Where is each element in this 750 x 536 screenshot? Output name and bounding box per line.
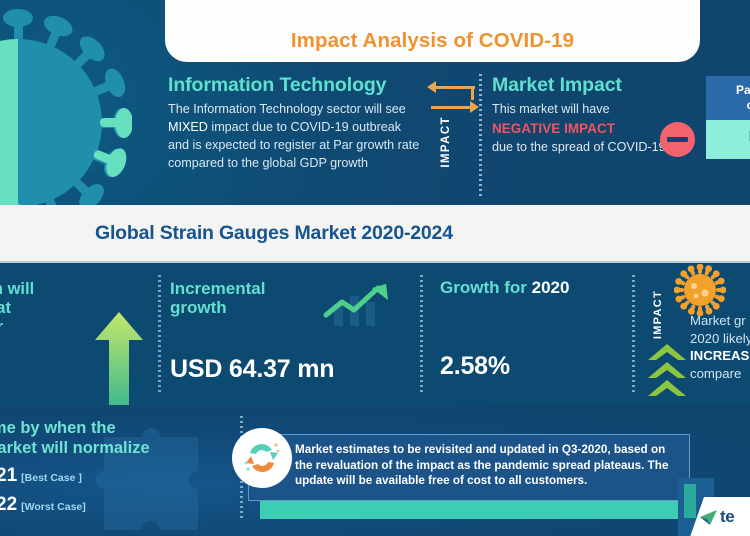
pandemic-head-line2: on <box>747 98 750 112</box>
inc-label-line2: growth <box>170 298 227 317</box>
mi-body-part1: This market will have <box>492 102 610 116</box>
trend-up-icon <box>320 282 392 326</box>
mi-body-emphasis: NEGATIVE IMPACT <box>492 121 615 136</box>
impact-label-vertical: IMPACT <box>440 116 452 168</box>
coronavirus-icon <box>674 264 726 316</box>
market-impact-block: Market Impact This market will have NEGA… <box>492 74 667 157</box>
no-entry-icon <box>660 122 695 157</box>
it-body: The Information Technology sector will s… <box>168 101 420 173</box>
ri-line3: INCREASE <box>690 348 750 363</box>
dotted-divider <box>479 74 482 198</box>
title-banner: Impact Analysis of COVID-19 <box>165 0 700 62</box>
ri-line2: 2020 likely <box>690 331 750 346</box>
right-impact-text: Market gr 2020 likely INCREASE compare <box>690 312 750 382</box>
normalization-line2: on market will normalize <box>0 439 150 457</box>
best-case-value: 3-2021 <box>0 465 17 486</box>
worst-case-tag: [Worst Case] <box>21 501 86 513</box>
market-impact-body: This market will have NEGATIVE IMPACT du… <box>492 101 667 157</box>
growth-label-teal: Growth for <box>440 278 532 297</box>
it-heading: Information Technology <box>168 74 420 97</box>
market-name-band: Global Strain Gauges Market 2020-2024 <box>0 205 750 263</box>
arrow-up-icon <box>95 312 143 407</box>
pandemic-card: Pande on D <box>706 76 750 159</box>
note-text: Market estimates to be revisited and upd… <box>249 435 689 489</box>
coronavirus-icon <box>0 8 132 205</box>
dotted-divider-1 <box>158 275 161 393</box>
worst-case-value: 1-2022 <box>0 494 17 515</box>
metric-left-line2: RATE at <box>0 299 11 317</box>
normalization-line1: ed time by when the <box>0 419 116 437</box>
page-title: Impact Analysis of COVID-19 <box>291 29 574 53</box>
chevron-up-icon <box>648 344 686 400</box>
growth-2020-label: Growth for 2020 <box>440 278 569 297</box>
arrow-connector <box>471 87 474 100</box>
incremental-growth-value: USD 64.37 mn <box>170 355 334 384</box>
best-case-row: 3-2021[Best Case ] <box>0 465 218 487</box>
pandemic-card-body: D <box>706 120 750 159</box>
pandemic-card-header: Pande on <box>706 76 750 120</box>
information-technology-block: Information Technology The Information T… <box>168 74 420 173</box>
right-impact-block: IMPACT <box>646 266 750 406</box>
pandemic-head-line1: Pande <box>736 83 750 97</box>
market-name: Global Strain Gauges Market 2020-2024 <box>0 222 453 245</box>
best-case-tag: [Best Case ] <box>21 472 82 484</box>
normalization-time-block: ed time by when the on market will norma… <box>0 418 218 516</box>
normalization-heading: ed time by when the on market will norma… <box>0 418 218 458</box>
it-body-emphasis: MIXED <box>168 120 208 134</box>
ri-line4: compare <box>690 366 741 381</box>
metric-left-line1: growth will <box>0 280 34 298</box>
impact-divider: IMPACT <box>427 80 483 192</box>
logo-decoration-accent <box>684 484 696 518</box>
inc-label-line1: Incremental <box>170 279 265 298</box>
right-impact-label: IMPACT <box>652 290 664 339</box>
arrow-right-icon <box>427 100 479 113</box>
dotted-divider-2 <box>420 275 423 393</box>
note-box: Market estimates to be revisited and upd… <box>248 434 690 501</box>
it-body-part1: The Information Technology sector will s… <box>168 102 406 116</box>
metric-left-line3: of over <box>0 318 3 336</box>
growth-label-year: 2020 <box>532 278 570 297</box>
market-impact-heading: Market Impact <box>492 74 667 97</box>
growth-2020-value: 2.58% <box>440 352 510 381</box>
ri-line1: Market gr <box>690 313 746 328</box>
top-impact-section: Impact Analysis of COVID-19 Information … <box>0 0 750 205</box>
refresh-arrows-icon <box>232 428 292 488</box>
worst-case-row: 1-2022[Worst Case] <box>0 494 218 516</box>
technavio-logo-icon <box>700 510 717 525</box>
dotted-divider-3 <box>632 275 635 393</box>
logo-text: te <box>720 507 734 527</box>
infographic-root: Impact Analysis of COVID-19 Information … <box>0 0 750 536</box>
mi-body-part2: due to the spread of COVID-19 <box>492 140 666 154</box>
